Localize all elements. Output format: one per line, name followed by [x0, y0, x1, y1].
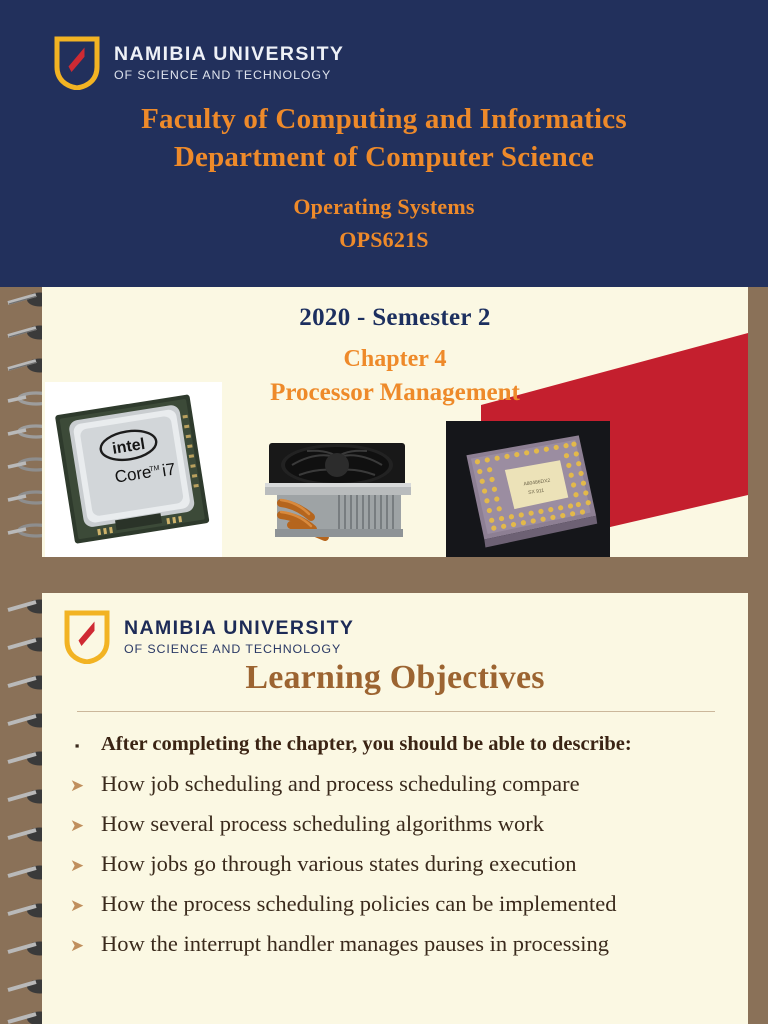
arrow-bullet-icon: ➤ [66, 887, 88, 924]
arrow-bullet-icon: ➤ [66, 807, 88, 844]
course-code: OPS621S [0, 223, 768, 256]
objective-text: How jobs go through various states durin… [101, 845, 577, 882]
semester-label: 2020 - Semester 2 [42, 304, 748, 332]
intel-core-i7-cpu-photo: intel Core i7 TM [45, 382, 222, 557]
objective-text: How several process scheduling algorithm… [101, 805, 544, 842]
objective-text: How the process scheduling policies can … [101, 885, 616, 922]
presentation-page: NAMIBIA UNIVERSITY OF SCIENCE AND TECHNO… [0, 0, 768, 1024]
list-item: ➤ How jobs go through various states dur… [66, 845, 736, 884]
title-slide: NAMIBIA UNIVERSITY OF SCIENCE AND TECHNO… [0, 0, 768, 287]
list-item: ➤ How job scheduling and process schedul… [66, 765, 736, 804]
brand-name-secondary: OF SCIENCE AND TECHNOLOGY [124, 643, 354, 655]
page-title: Learning Objectives [42, 659, 748, 697]
faculty-title: Faculty of Computing and Informatics [0, 100, 768, 138]
nust-brand-wordmark: NAMIBIA UNIVERSITY OF SCIENCE AND TECHNO… [124, 619, 354, 655]
objective-lead-text: After completing the chapter, you should… [101, 726, 632, 763]
arrow-bullet-icon: ➤ [66, 927, 88, 964]
nust-brand-wordmark: NAMIBIA UNIVERSITY OF SCIENCE AND TECHNO… [114, 45, 344, 81]
brand-name-primary: NAMIBIA UNIVERSITY [124, 619, 354, 639]
gold-pga-processor-chip-photo: A80486DX2 SX 911 [446, 421, 610, 557]
brand-name-primary: NAMIBIA UNIVERSITY [114, 45, 344, 65]
list-item-lead: ▪ After completing the chapter, you shou… [66, 726, 736, 764]
square-bullet-icon: ▪ [66, 727, 88, 764]
learning-objectives-slide: NAMIBIA UNIVERSITY OF SCIENCE AND TECHNO… [42, 593, 748, 1024]
brand-name-secondary: OF SCIENCE AND TECHNOLOGY [114, 69, 344, 81]
nust-shield-icon [54, 36, 100, 90]
nust-shield-icon [64, 610, 110, 664]
list-item: ➤ How the interrupt handler manages paus… [66, 925, 736, 964]
list-item: ➤ How the process scheduling policies ca… [66, 885, 736, 924]
course-name: Operating Systems [0, 190, 768, 223]
list-item: ➤ How several process scheduling algorit… [66, 805, 736, 844]
objective-text: How the interrupt handler manages pauses… [101, 925, 609, 962]
chapter-slide: 2020 - Semester 2 Chapter 4 Processor Ma… [42, 287, 748, 557]
arrow-bullet-icon: ➤ [66, 767, 88, 804]
title-divider [77, 711, 715, 712]
nust-brand-lockup-objectives: NAMIBIA UNIVERSITY OF SCIENCE AND TECHNO… [64, 610, 354, 664]
objectives-list: ▪ After completing the chapter, you shou… [66, 726, 736, 965]
objective-text: How job scheduling and process schedulin… [101, 765, 580, 802]
arrow-bullet-icon: ➤ [66, 847, 88, 884]
nust-brand-lockup-header: NAMIBIA UNIVERSITY OF SCIENCE AND TECHNO… [54, 36, 344, 90]
title-text-block: Faculty of Computing and Informatics Dep… [0, 100, 768, 256]
cpu-cooler-heatsink-fan-photo [247, 421, 427, 557]
department-title: Department of Computer Science [0, 138, 768, 176]
chapter-number: Chapter 4 [42, 346, 748, 373]
